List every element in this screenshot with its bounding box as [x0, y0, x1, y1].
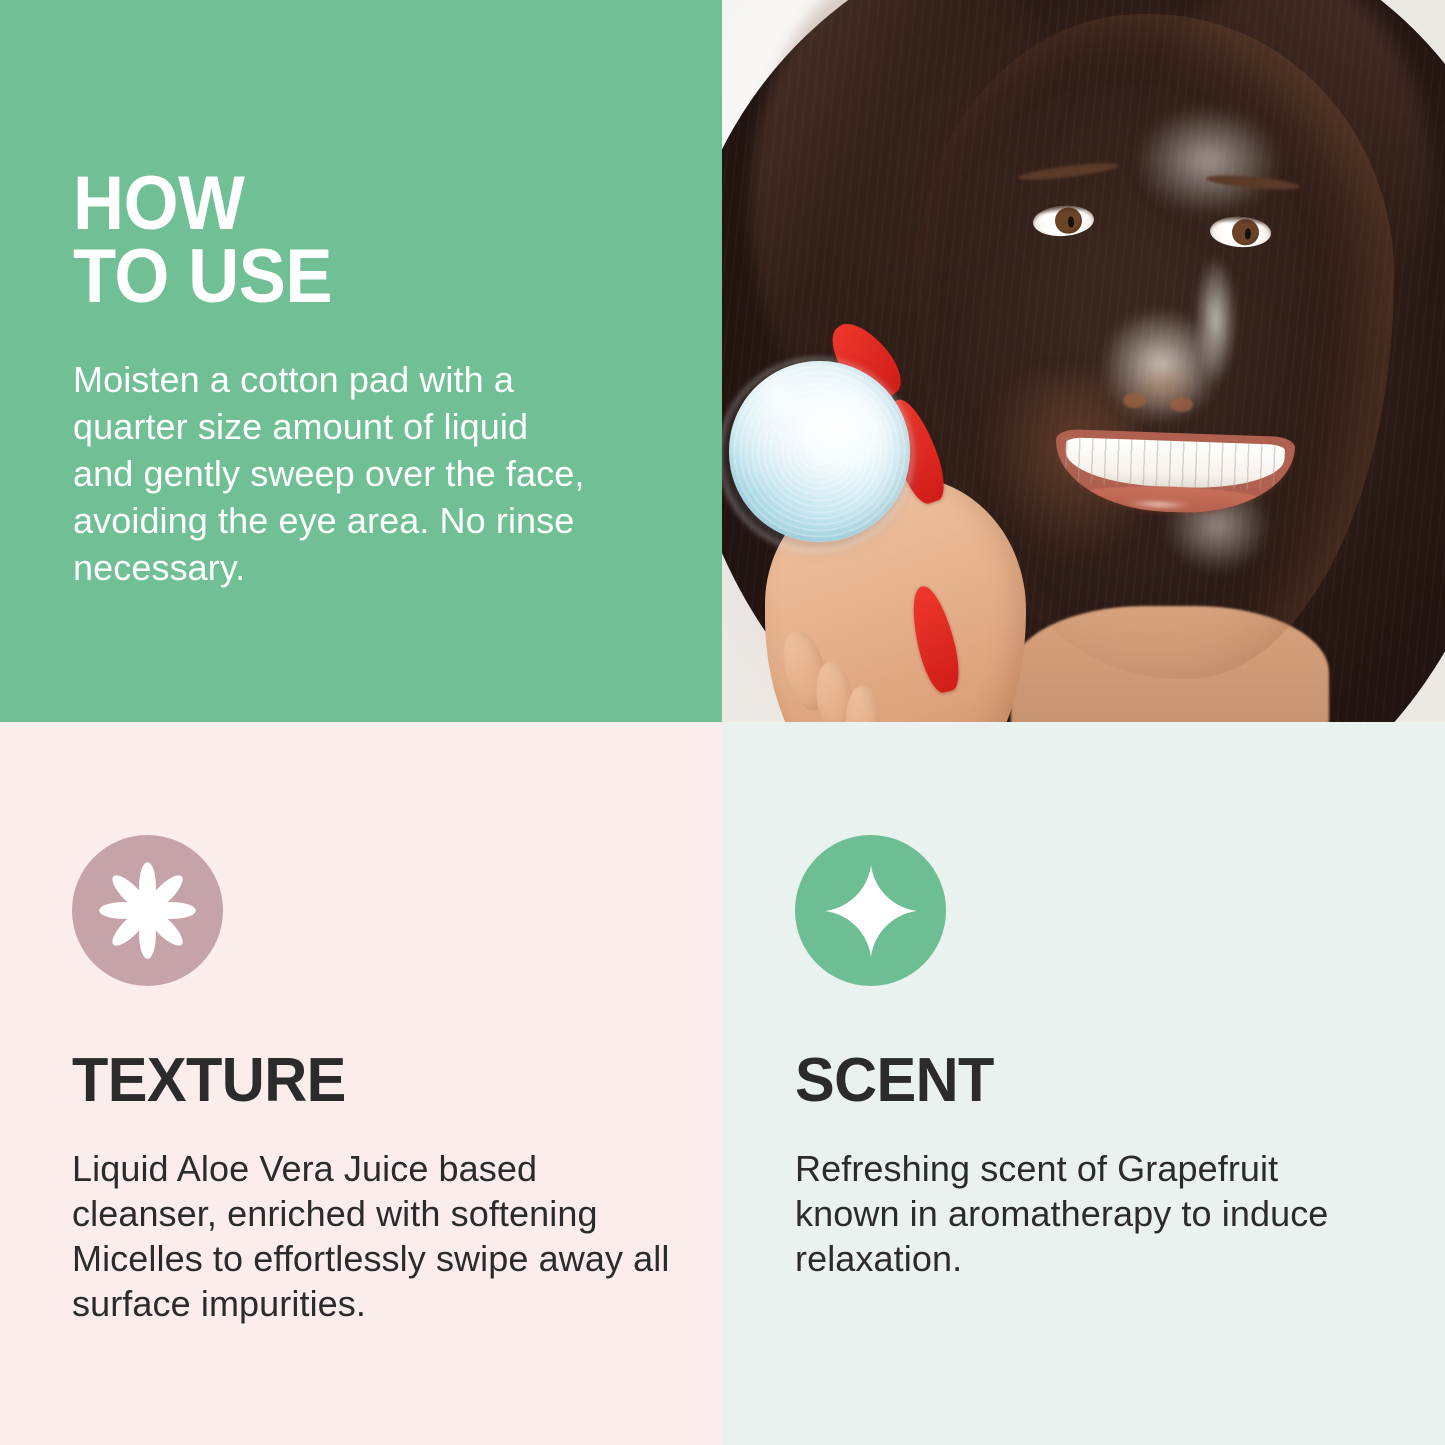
scent-body: Refreshing scent of Grapefruit known in …: [795, 1146, 1340, 1281]
panel-how-to-use: HOW TO USE Moisten a cotton pad with a q…: [0, 0, 722, 722]
flower-petal-icon: [95, 858, 200, 963]
pupil-right: [1245, 228, 1251, 239]
sparkle-star-icon: [821, 861, 921, 961]
nose-highlight: [1194, 254, 1237, 387]
pupil-left: [1068, 216, 1074, 227]
teeth: [1064, 437, 1285, 491]
nostril-right: [1170, 397, 1193, 411]
panel-texture: TEXTURE Liquid Aloe Vera Juice based cle…: [0, 722, 722, 1445]
scent-title: SCENT: [795, 1050, 1419, 1112]
texture-body: Liquid Aloe Vera Juice based cleanser, e…: [72, 1146, 692, 1326]
model-smile: [1053, 429, 1294, 517]
panel-model-photo: [722, 0, 1445, 722]
texture-title: TEXTURE: [72, 1050, 696, 1112]
product-benefits-infographic: HOW TO USE Moisten a cotton pad with a q…: [0, 0, 1445, 1445]
panel-scent: SCENT Refreshing scent of Grapefruit kno…: [722, 722, 1445, 1445]
how-to-use-title: HOW TO USE: [73, 168, 677, 314]
cotton-pad: [729, 361, 910, 542]
scent-icon-badge: [795, 835, 946, 986]
texture-icon-badge: [72, 835, 223, 986]
model-photo-image: [722, 0, 1445, 722]
how-to-use-body: Moisten a cotton pad with a quarter size…: [73, 356, 598, 591]
forehead-highlight: [1137, 107, 1280, 213]
